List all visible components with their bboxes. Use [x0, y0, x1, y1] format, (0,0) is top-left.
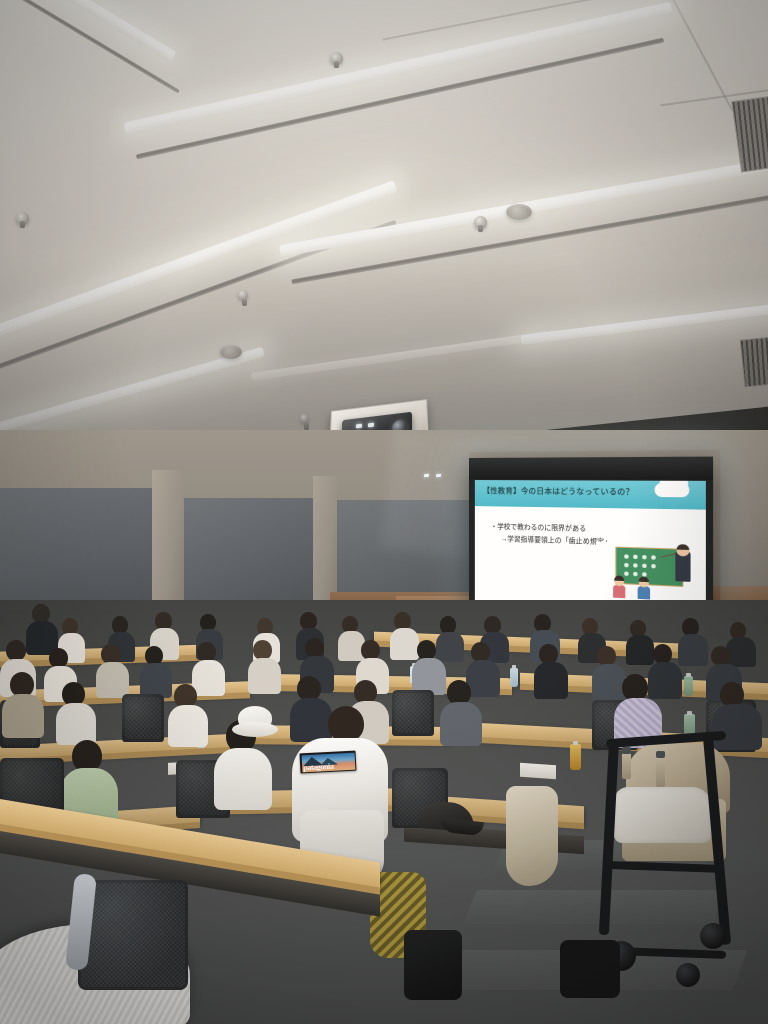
projector-indicator-light [368, 423, 374, 428]
sprinkler-head [300, 414, 309, 423]
patagonia-logo: patagonia [300, 751, 357, 774]
tea-bottle [570, 744, 581, 770]
ceiling-speaker [506, 204, 532, 220]
slide-title: 【性教育】今の日本はどうなっているの？ [483, 485, 634, 498]
patagonia-wordmark: patagonia [303, 762, 334, 773]
student-graphic [613, 576, 625, 598]
tote-bag [506, 786, 558, 886]
wall-pillar [152, 470, 184, 620]
sprinkler-head [474, 216, 487, 229]
stroller-wheel [676, 963, 700, 987]
recessed-downlight [424, 474, 429, 478]
green-tumbler [684, 676, 693, 696]
ceiling-speaker [220, 345, 242, 359]
air-vent [740, 336, 768, 387]
baby-stroller [600, 735, 750, 990]
stroller-crossbar [610, 861, 722, 873]
hat-brim [232, 722, 278, 737]
teacher-hair-graphic [677, 544, 690, 550]
stroller-wheel [700, 923, 726, 949]
stroller-strap [622, 753, 631, 779]
sprinkler-head [16, 212, 29, 225]
screen-valance [469, 457, 713, 480]
sprinkler-head [238, 290, 248, 300]
recessed-downlight [436, 474, 441, 478]
chair [122, 694, 164, 742]
wall-panel [183, 498, 313, 616]
floor-bag [560, 940, 620, 998]
student-graphic [638, 577, 650, 599]
chair [392, 690, 434, 736]
stroller-strap [656, 757, 665, 787]
handout-papers [520, 763, 556, 780]
lecture-hall-photo: 【性教育】今の日本はどうなっているの？ ・学校で教わるのに限界がある →学習指導… [0, 0, 768, 1024]
slide-bullet-1: ・学校で教わるのに限界がある [491, 520, 587, 533]
sprinkler-head [330, 52, 343, 65]
backpack [404, 930, 462, 1000]
water-bottle [510, 668, 518, 687]
projector-indicator-light [356, 424, 362, 429]
wall-panel [0, 488, 152, 616]
stroller-clip [622, 747, 631, 754]
stroller-blanket [614, 787, 712, 843]
cloud-icon [655, 483, 690, 497]
stroller-clip [656, 751, 665, 758]
